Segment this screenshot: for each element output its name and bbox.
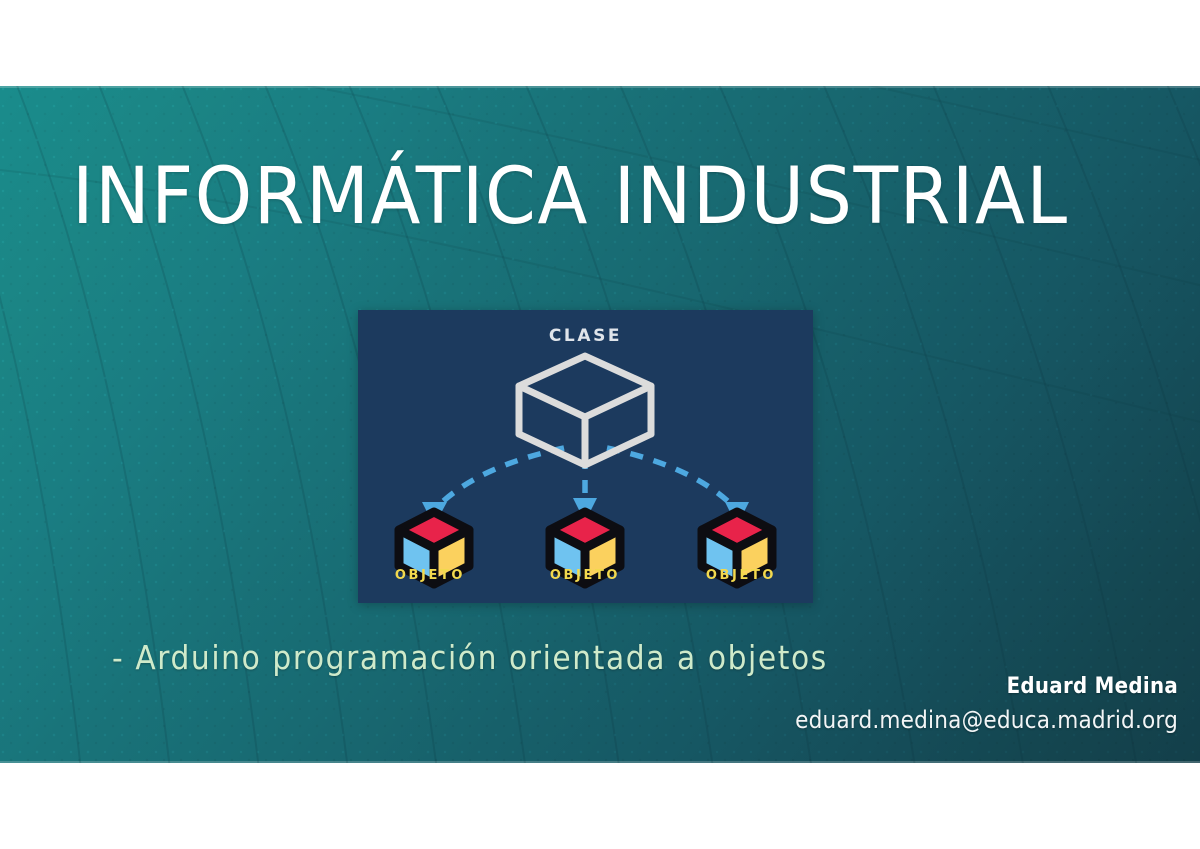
diagram-object-label: OBJETO xyxy=(510,568,660,583)
title-slide: INFORMÁTICA INDUSTRIAL xyxy=(0,86,1200,763)
diagram-object-label: OBJETO xyxy=(358,568,505,583)
clase-objeto-diagram: CLASE OBJETO OBJETO OBJETO xyxy=(358,310,813,603)
author-email: eduard.medina@educa.madrid.org xyxy=(795,706,1178,734)
author-name: Eduard Medina xyxy=(1007,674,1178,699)
page-title: INFORMÁTICA INDUSTRIAL xyxy=(72,158,1185,236)
page-canvas: INFORMÁTICA INDUSTRIAL xyxy=(0,0,1200,849)
page-subtitle: - Arduino programación orientada a objet… xyxy=(112,638,828,677)
diagram-class-label: CLASE xyxy=(358,326,813,346)
diagram-object-label: OBJETO xyxy=(666,568,813,583)
